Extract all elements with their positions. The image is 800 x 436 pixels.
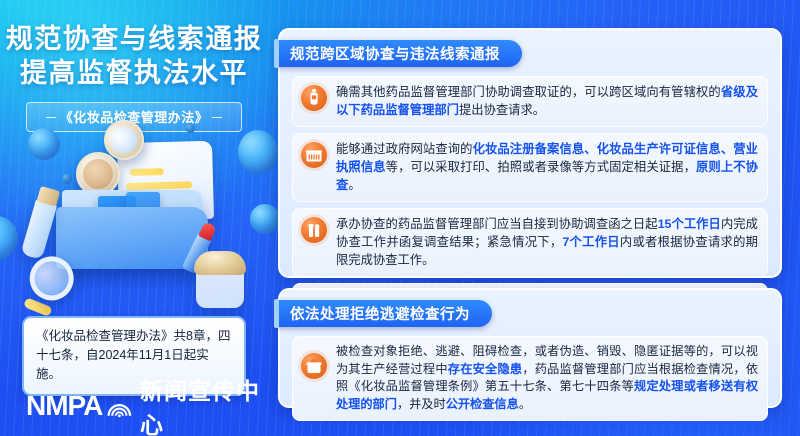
list-item-text: 被检查对象拒绝、逃避、阻碍检查，或者伪造、销毁、隐匿证据等的，可以视为其生产经营… <box>336 343 758 413</box>
doc-highlight-1 <box>130 168 164 176</box>
magnifier-lens <box>24 251 79 306</box>
logo-cn-text: 新闻宣传中心 <box>140 372 268 436</box>
cream-jar-icon <box>196 264 244 308</box>
list-item: 确需其他药品监督管理部门协助调查取证的，可以跨区域向有管辖权的省级及以下药品监督… <box>292 76 768 127</box>
nmpa-logo: NMPA 新闻宣传中心 <box>26 372 268 436</box>
compact-mirror <box>107 123 141 157</box>
list-item: 承办协查的药品监督管理部门应当自接到协助调查函之日起15个工作日内完成协查工作并… <box>292 208 768 277</box>
bubble-edge-left-icon <box>0 216 18 260</box>
powder-pan <box>83 159 113 189</box>
cream-jar-icon <box>301 353 327 379</box>
list-item-text: 承办协查的药品监督管理部门应当自接到协助调查函之日起15个工作日内完成协查工作并… <box>336 215 758 269</box>
logo-wordmark: NMPA <box>26 390 102 422</box>
lipstick-icon <box>301 217 327 243</box>
lotion-bottle-icon <box>301 85 327 111</box>
section-heading-2: 依法处理拒绝逃避检查行为 <box>276 300 492 327</box>
left-column: 规范协查与线索通报 提高监督执法水平 《化妆品检查管理办法》 <box>0 0 268 436</box>
bubble-tiny-icon <box>186 124 195 133</box>
panel-cross-region-assistance: 规范跨区域协查与违法线索通报 确需其他药品监督管理部门协助调查取证的，可以跨区域… <box>278 28 782 278</box>
list-item-text: 能够通过政府网站查询的化妆品注册备案信息、化妆品生产许可证信息、营业执照信息等，… <box>336 140 758 194</box>
list-item-text: 确需其他药品监督管理部门协助调查取证的，可以跨区域向有管辖权的省级及以下药品监督… <box>336 83 758 119</box>
title-line-2: 提高监督执法水平 <box>0 56 268 90</box>
list-item: 能够通过政府网站查询的化妆品注册备案信息、化妆品生产许可证信息、营业执照信息等，… <box>292 133 768 202</box>
bubble-large-icon <box>28 128 60 160</box>
infographic-poster: 规范协查与线索通报 提高监督执法水平 《化妆品检查管理办法》 <box>0 0 800 436</box>
title-line-1: 规范协查与线索通报 <box>0 22 268 56</box>
section-2-items: 被检查对象拒绝、逃避、阻碍检查，或者伪造、销毁、隐匿证据等的，可以视为其生产经营… <box>292 336 768 427</box>
nmpa-arc-mark-icon <box>106 393 133 419</box>
powder-compact-icon <box>301 142 327 168</box>
doc-highlight-2 <box>126 181 192 190</box>
jar-lid <box>194 251 246 275</box>
panel-refusal-handling: 依法处理拒绝逃避检查行为 被检查对象拒绝、逃避、阻碍检查，或者伪造、销毁、隐匿证… <box>278 288 782 408</box>
bottle-cap <box>37 186 61 207</box>
right-column: 规范跨区域协查与违法线索通报 确需其他药品监督管理部门协助调查取证的，可以跨区域… <box>268 0 800 436</box>
cosmetics-illustration <box>0 112 268 312</box>
bubble-small-icon <box>62 174 72 184</box>
section-heading-1: 规范跨区域协查与违法线索通报 <box>276 40 522 67</box>
toner-bottle-icon <box>20 198 57 260</box>
list-item: 被检查对象拒绝、逃避、阻碍检查，或者伪造、销毁、隐匿证据等的，可以视为其生产经营… <box>292 336 768 421</box>
